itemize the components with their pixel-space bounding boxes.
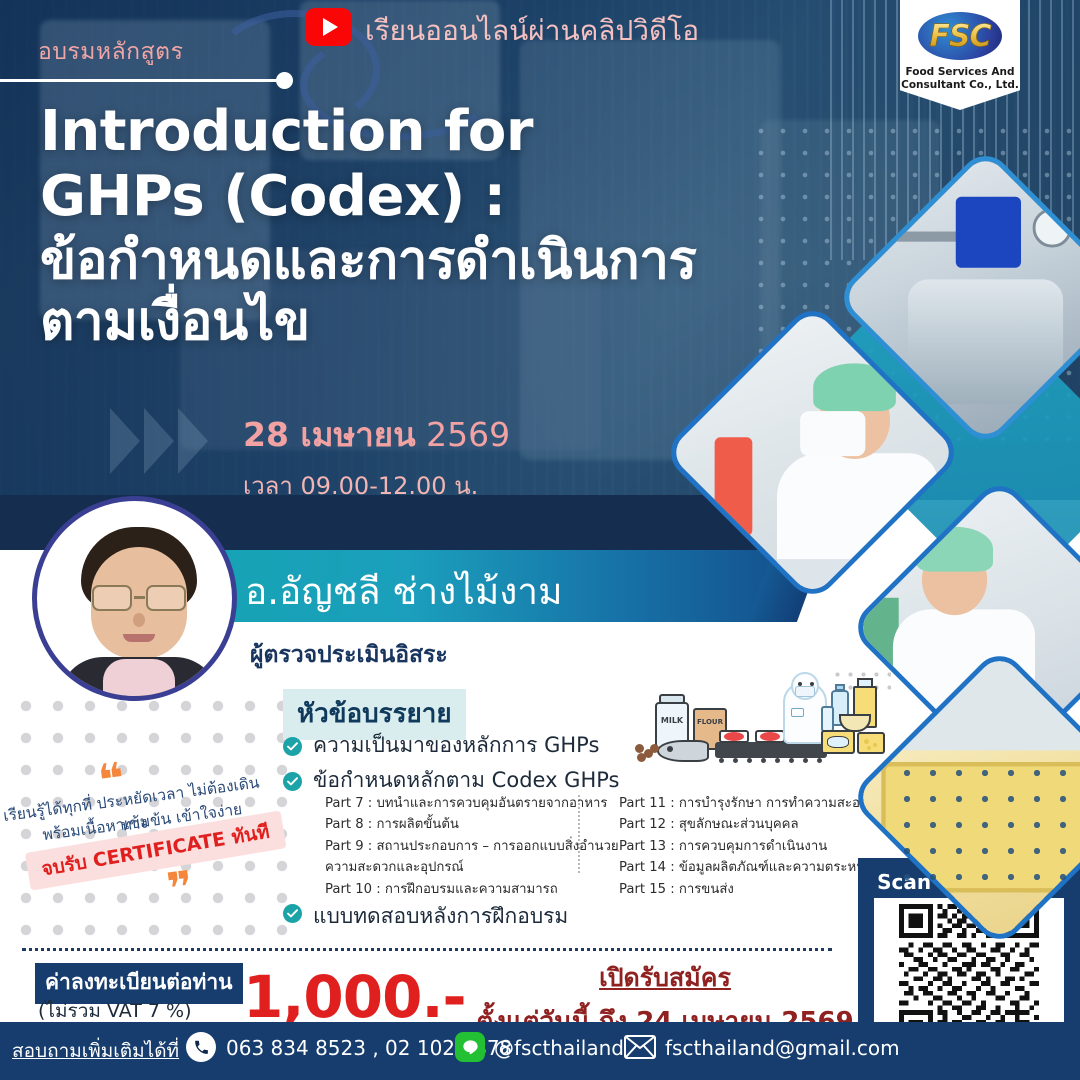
price-amount: 1,000.- (243, 963, 466, 1031)
check-icon (283, 737, 302, 756)
check-icon (283, 772, 302, 791)
play-icon (305, 8, 352, 46)
flour-label: FLOUR (693, 718, 727, 726)
contact-line-id[interactable]: @fscthailand (494, 1036, 624, 1060)
page-title: Introduction for GHPs (Codex) : ข้อกำหนด… (40, 100, 830, 353)
contact-ask-label: สอบถามเพิ่มเติมได้ที่ (12, 1036, 179, 1066)
arrow-decoration (110, 408, 230, 478)
topic-label: ข้อกำหนดหลักตาม Codex GHPs (313, 768, 619, 794)
event-date-year: 2569 (426, 415, 510, 454)
mail-icon (623, 1034, 657, 1060)
list-item: ข้อกำหนดหลักตาม Codex GHPs (283, 768, 683, 794)
kicker-rule (0, 79, 290, 82)
contact-email[interactable]: fscthailand@gmail.com (665, 1036, 900, 1060)
part-item: Part 10 : การฝึกอบรมและความสามารถ (325, 879, 587, 900)
kicker-dot (276, 72, 293, 89)
speaker-role: ผู้ตรวจประเมินอิสระ (250, 637, 448, 673)
registration-open-label: เปิดรับสมัคร (455, 958, 875, 998)
list-item: ความเป็นมาของหลักการ GHPs (283, 733, 683, 759)
topic-label: ความเป็นมาของหลักการ GHPs (313, 733, 599, 759)
company-logo: FSC Food Services And Consultant Co., Lt… (900, 0, 1020, 110)
parts-columns: Part 7 : บทนำและการควบคุมอันตรายจากอาหาร… (325, 793, 895, 900)
event-date-daymonth: 28 เมษายน (243, 415, 416, 454)
part-item: Part 8 : การผลิตขั้นต้น (325, 814, 587, 835)
list-item: แบบทดสอบหลังการฝึกอบรม (283, 900, 568, 933)
part-item: Part 13 : การควบคุมการดำเนินงาน (619, 836, 919, 857)
title-line-4: ตามเงื่อนไข (40, 291, 830, 352)
logo-line-2: Consultant Co., Ltd. (900, 79, 1020, 91)
title-line-3: ข้อกำหนดและการดำเนินการ (40, 230, 830, 291)
logo-line-1: Food Services And (900, 66, 1020, 78)
title-line-2: GHPs (Codex) : (40, 165, 830, 230)
milk-label: MILK (655, 716, 689, 725)
title-line-1: Introduction for (40, 100, 830, 165)
online-label: เรียนออนไลน์ผ่านคลิปวิดีโอ (365, 9, 699, 53)
poster-canvas: อบรมหลักสูตร Introduction for GHPs (Code… (0, 0, 1080, 1080)
speaker-portrait-icon (37, 501, 232, 696)
event-date-block: 28 เมษายน 2569 เวลา 09.00-12.00 น. (243, 408, 510, 505)
parts-column-left: Part 7 : บทนำและการควบคุมอันตรายจากอาหาร… (325, 793, 587, 900)
dot-pattern-right (894, 760, 1074, 890)
part-item: Part 7 : บทนำและการควบคุมอันตรายจากอาหาร (325, 793, 587, 814)
line-icon (455, 1032, 485, 1062)
phone-icon (186, 1032, 216, 1062)
divider (22, 948, 832, 951)
topics-list: ความเป็นมาของหลักการ GHPs ข้อกำหนดหลักตา… (283, 733, 683, 802)
post-test-label: แบบทดสอบหลังการฝึกอบรม (313, 900, 568, 933)
event-date: 28 เมษายน 2569 (243, 408, 510, 461)
logo-mark: FSC (918, 19, 1002, 54)
food-safety-illustration-icon: MILK FLOUR (635, 668, 885, 780)
check-icon (283, 904, 302, 923)
speaker-name: อ.อัญชลี ช่างไม้งาม (245, 562, 562, 621)
part-item-continued: ความสะดวกและอุปกรณ์ (325, 857, 587, 878)
part-item: Part 9 : สถานประกอบการ – การออกแบบสิ่งอำ… (325, 836, 587, 857)
avatar (32, 496, 237, 701)
